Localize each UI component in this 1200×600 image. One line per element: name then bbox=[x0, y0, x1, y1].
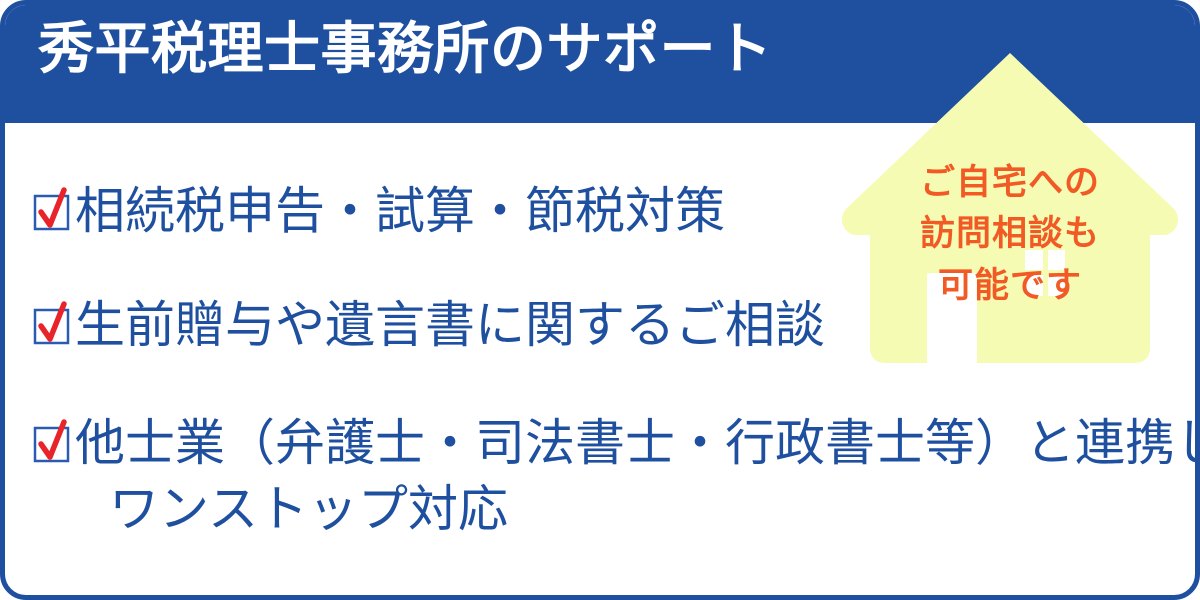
list-item: 生前贈与や遺言書に関するご相談 bbox=[33, 292, 825, 358]
list-item: 他士業（弁護士・司法書士・行政書士等）と連携した ワンストップ対応 bbox=[33, 410, 1200, 542]
page-title: 秀平税理士事務所のサポート bbox=[38, 21, 773, 77]
list-item-label: 相続税申告・試算・節税対策 bbox=[75, 178, 725, 244]
house-badge-text: ご自宅への 訪問相談も 可能です bbox=[840, 157, 1180, 311]
list-item-label: 他士業（弁護士・司法書士・行政書士等）と連携した ワンストップ対応 bbox=[75, 410, 1200, 542]
list-item-label: 生前贈与や遺言書に関するご相談 bbox=[75, 292, 825, 358]
list-item: 相続税申告・試算・節税対策 bbox=[33, 178, 725, 244]
checked-checkbox-icon bbox=[33, 192, 71, 230]
support-info-card: 秀平税理士事務所のサポート 相続税申告・試算・節税対策 bbox=[0, 0, 1200, 600]
checked-checkbox-icon bbox=[33, 306, 71, 344]
checked-checkbox-icon bbox=[33, 424, 71, 462]
